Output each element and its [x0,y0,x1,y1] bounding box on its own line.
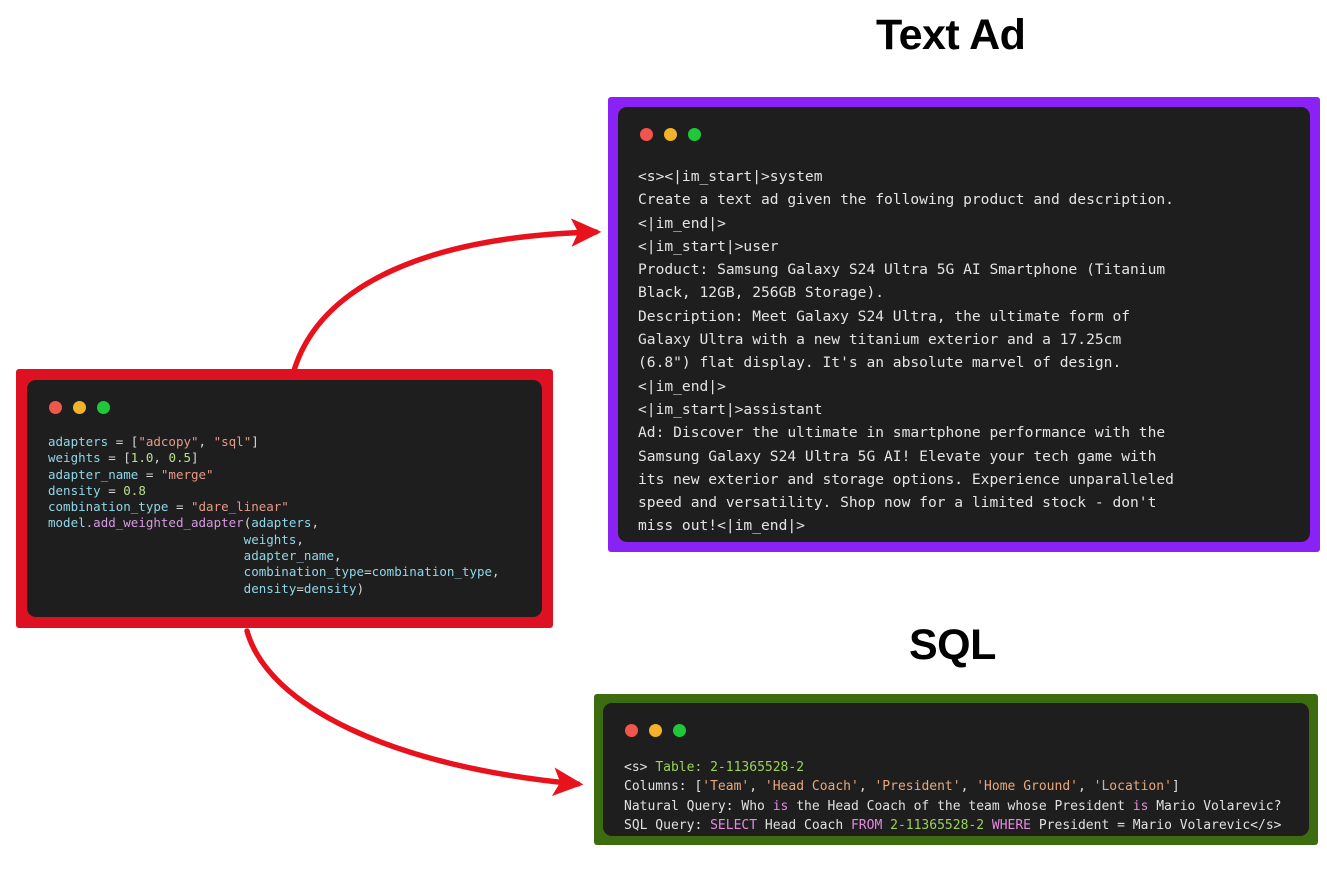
heading-sql: SQL [909,624,996,667]
traffic-lights-text-ad [640,126,1294,142]
sql-column-president: 'President' [874,779,960,794]
token-density: density [48,483,101,498]
code-block-sql: <s> Table: 2-11365528-2 Columns: ['Team'… [624,758,1293,836]
close-dot[interactable] [640,128,653,141]
token-str-adcopy: "adcopy" [138,434,198,449]
token-combination-type: combination_type [48,499,168,514]
traffic-lights-sql [625,722,1293,738]
terminal-window-sql[interactable]: <s> Table: 2-11365528-2 Columns: ['Team'… [594,694,1318,845]
minimize-dot[interactable] [664,128,677,141]
maximize-dot[interactable] [97,401,110,414]
sql-line4-cols: Head Coach [757,818,851,833]
token-arg-adapter-name: adapter_name [244,548,334,563]
sql-line1-prefix: <s> [624,760,655,775]
token-str-merge: "merge" [161,467,214,482]
token-arg-density: density [244,581,297,596]
diagram-canvas: Text Ad SQL adapters = ["adcopy", "sql"]… [0,0,1327,869]
token-argval-combination-type: combination_type [372,564,492,579]
token-weights: weights [48,450,101,465]
sql-keyword-where: WHERE [992,818,1031,833]
arrow-merge-to-text-ad [293,232,596,374]
minimize-dot[interactable] [73,401,86,414]
token-arg-adapters: adapters [251,515,311,530]
close-dot[interactable] [625,724,638,737]
sql-line2-suffix: ] [1172,779,1180,794]
token-num-1-0: 1.0 [131,450,154,465]
token-arg-weights: weights [244,532,297,547]
terminal-window-text-ad[interactable]: <s><|im_start|>system Create a text ad g… [608,97,1320,552]
terminal-window-merge[interactable]: adapters = ["adcopy", "sql"] weights = [… [16,369,553,628]
terminal-body-merge: adapters = ["adcopy", "sql"] weights = [… [27,380,542,617]
sql-keyword-from: FROM [851,818,882,833]
token-method-add-weighted-adapter: .add_weighted_adapter [86,515,244,530]
sql-column-head-coach: 'Head Coach' [765,779,859,794]
sql-column-location: 'Location' [1094,779,1172,794]
sql-line3-kw-is-2: is [1133,799,1149,814]
terminal-body-sql: <s> Table: 2-11365528-2 Columns: ['Team'… [603,703,1309,836]
heading-text-ad: Text Ad [876,14,1025,57]
maximize-dot[interactable] [688,128,701,141]
arrow-merge-to-sql [247,631,578,784]
token-num-0-8: 0.8 [123,483,146,498]
token-adapter-name: adapter_name [48,467,138,482]
maximize-dot[interactable] [673,724,686,737]
sql-line1-value: 2-11365528-2 [710,760,804,775]
token-str-sql: "sql" [214,434,252,449]
traffic-lights-merge [49,399,526,415]
terminal-body-text-ad: <s><|im_start|>system Create a text ad g… [618,107,1310,542]
minimize-dot[interactable] [649,724,662,737]
code-block-merge: adapters = ["adcopy", "sql"] weights = [… [48,434,526,597]
sql-line3-label: Natural Query: [624,799,741,814]
sql-line3-kw-is: is [773,799,789,814]
token-adapters: adapters [48,434,108,449]
token-model: model [48,515,86,530]
token-arg-combination-type: combination_type [244,564,364,579]
token-str-dare-linear: "dare_linear" [191,499,289,514]
sql-line2-label: Columns: [ [624,779,702,794]
sql-line4-table: 2-11365528-2 [882,818,992,833]
token-argval-density: density [304,581,357,596]
sql-line3-part3: Mario Volarevic? [1148,799,1281,814]
sql-line3-part2: the Head Coach of the team whose Preside… [788,799,1132,814]
sql-line4-cond: President = Mario Volarevic</s> [1031,818,1281,833]
sql-line3-part1: Who [741,799,772,814]
sql-column-home-ground: 'Home Ground' [976,779,1078,794]
close-dot[interactable] [49,401,62,414]
sql-keyword-select: SELECT [710,818,757,833]
sql-line1-label: Table: [655,760,710,775]
sql-column-team: 'Team' [702,779,749,794]
sql-line4-label: SQL Query: [624,818,710,833]
token-num-0-5: 0.5 [168,450,191,465]
code-block-text-ad: <s><|im_start|>system Create a text ad g… [638,165,1294,538]
